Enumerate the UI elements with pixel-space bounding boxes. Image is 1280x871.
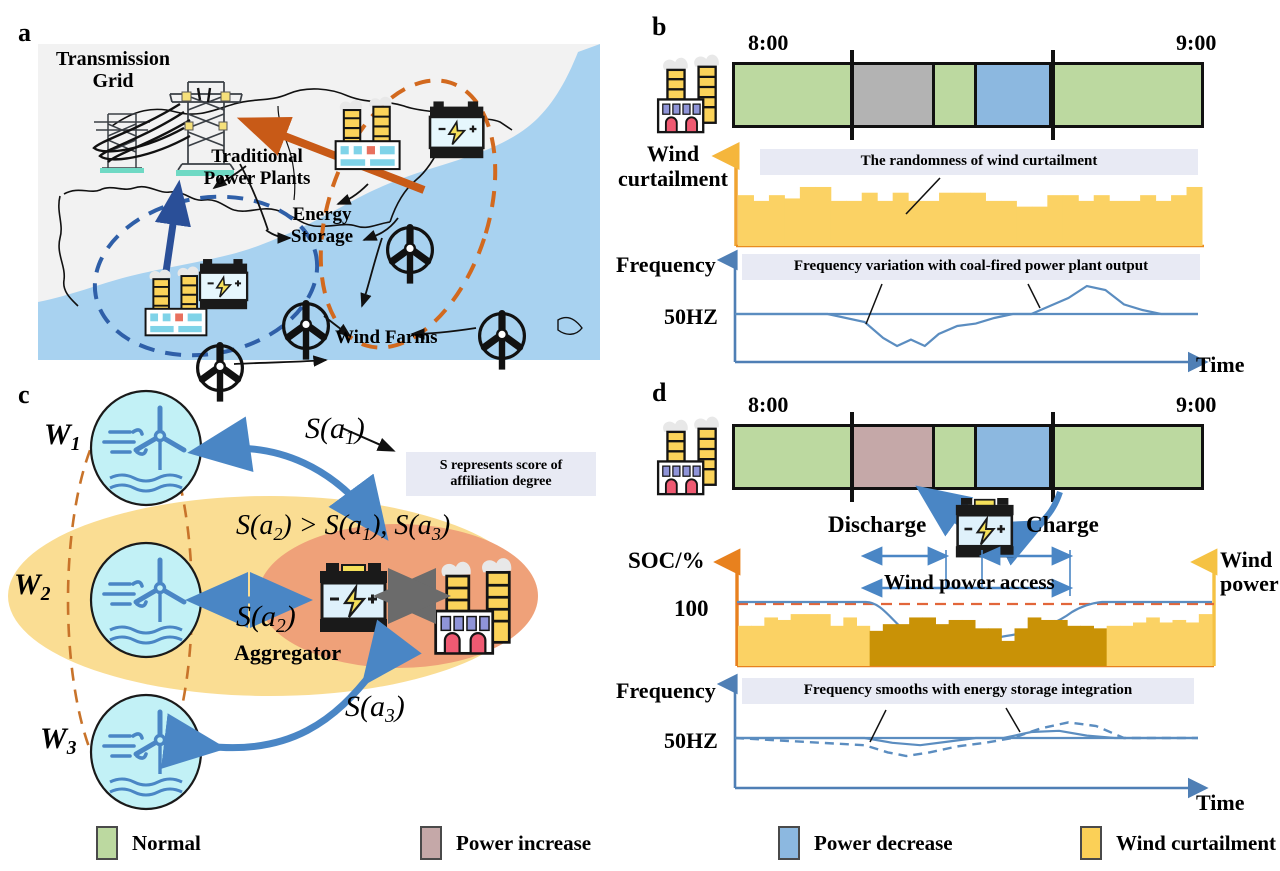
panel-c-s-a3-label: S(a3): [345, 690, 405, 728]
timeline-segment: [854, 65, 936, 125]
wind-label-line2: curtailment: [618, 166, 728, 191]
panel-d-windpower-axis-label: Wind power: [1220, 548, 1279, 596]
panel-b-time-start: 8:00: [748, 30, 788, 56]
energy-storage-line2: Storage: [291, 226, 353, 247]
legend-item: Normal: [96, 826, 201, 860]
legend-swatch: [1080, 826, 1102, 860]
panel-b-frequency-callout: Frequency variation with coal-fired powe…: [742, 254, 1200, 280]
panel-b-frequency-axis-label: Frequency: [616, 252, 716, 278]
energy-storage-label: Energy Storage: [277, 204, 367, 248]
legend-label: Wind curtailment: [1116, 831, 1276, 856]
panel-c-score-callout: S represents score of affiliation degree: [406, 452, 596, 496]
wind-node-1: [91, 391, 201, 505]
w3-sub: 3: [67, 738, 77, 759]
wind-power-bar: [870, 631, 884, 666]
timeline-segment: [735, 427, 854, 487]
timeline-segment: [1052, 65, 1201, 125]
panel-d-soc-chart: [730, 540, 1222, 672]
legend-item: Power decrease: [778, 826, 953, 860]
wind-curtailment-bar: [1140, 195, 1156, 246]
wind-power-bar: [909, 617, 923, 666]
wind-curtailment-bar: [1109, 201, 1125, 246]
panel-b-wind-leader: [900, 176, 946, 218]
legend-label: Power decrease: [814, 831, 953, 856]
panel-d-frequency-axis-label: Frequency: [616, 678, 716, 704]
wind-power-bar: [975, 628, 989, 666]
wind-power-bar: [1001, 641, 1015, 666]
panel-b-letter: b: [652, 12, 666, 42]
wind-power-bar: [857, 626, 871, 666]
wind-power-bar: [1015, 628, 1029, 666]
wind-curtailment-bar: [1187, 187, 1203, 246]
s-a2-close: ): [286, 600, 296, 633]
wind-power-bar: [1133, 622, 1147, 666]
timeline-segment: [735, 65, 854, 125]
wind-power-bar: [1199, 614, 1213, 666]
wind-power-bar: [778, 620, 792, 666]
s-a2-base: S(a: [236, 600, 276, 633]
wind-curtailment-bar: [970, 193, 986, 246]
panel-c-s-a2-label: S(a2): [236, 600, 296, 638]
panel-b-frequency-baseline-label: 50HZ: [664, 304, 718, 330]
wind-curtailment-bar: [753, 201, 769, 246]
wind-power-bar: [751, 626, 765, 666]
wind-power-bar: [817, 614, 831, 666]
wind-curtailment-bar: [1063, 195, 1079, 246]
wind-farms-label: Wind Farms: [335, 327, 438, 349]
windpower-line2: power: [1220, 571, 1279, 596]
wind-power-bar: [738, 626, 752, 666]
transmission-grid-line1: Transmission: [56, 48, 170, 70]
wind-power-bar: [988, 628, 1002, 666]
panel-c-s-a1-label: S(a1): [305, 412, 365, 450]
wind-power-bar: [1173, 620, 1187, 666]
wind-node-2: [91, 543, 201, 657]
score-callout-line2: affiliation degree: [450, 474, 551, 490]
figure-root: a: [0, 0, 1280, 871]
panel-d-discharge-label: Discharge: [828, 512, 926, 538]
panel-d-frequency-baseline-label: 50HZ: [664, 728, 718, 754]
wind-power-bar: [1120, 626, 1134, 666]
wind-power-bar: [949, 620, 963, 666]
wind-power-bar: [843, 617, 857, 666]
panel-c-w2-label: W2: [14, 568, 50, 606]
wind-curtailment-bar: [784, 198, 800, 246]
wind-power-bar: [764, 617, 778, 666]
panel-d-frequency-callout: Frequency smooths with energy storage in…: [742, 678, 1194, 704]
panel-d-soc-axis-label: SOC/%: [628, 548, 705, 574]
legend-swatch: [778, 826, 800, 860]
panel-c-w3-label: W3: [40, 722, 76, 760]
w1-sub: 1: [71, 434, 81, 455]
legend-swatch: [96, 826, 118, 860]
wind-power-bar: [922, 617, 936, 666]
panel-b-plant-icon: [655, 50, 725, 138]
wind-power-bar: [896, 624, 910, 666]
timeline-divider: [850, 412, 854, 502]
legend-item: Power increase: [420, 826, 591, 860]
wind-power-bar: [883, 624, 897, 666]
legend-label: Normal: [132, 831, 201, 856]
s-a3-sub: 3: [385, 706, 395, 727]
wind-power-bar: [1054, 620, 1068, 666]
panel-b-timeline: [732, 62, 1204, 128]
timeline-segment: [977, 427, 1052, 487]
timeline-divider: [1051, 412, 1055, 502]
legend-swatch: [420, 826, 442, 860]
timeline-segment: [935, 65, 977, 125]
wind-curtailment-bar: [985, 201, 1001, 246]
wind-power-bar: [1067, 626, 1081, 666]
wind-power-bar: [936, 624, 950, 666]
timeline-divider: [850, 50, 854, 140]
wind-curtailment-bar: [1078, 201, 1094, 246]
wind-label-line1: Wind: [647, 141, 699, 166]
panel-c-w1-label: W1: [44, 418, 80, 456]
wind-curtailment-bar: [769, 195, 785, 246]
wind-curtailment-bar: [877, 201, 893, 246]
wind-curtailment-bar: [1125, 201, 1141, 246]
s-a3-close: ): [395, 690, 405, 723]
wind-curtailment-bar: [955, 193, 971, 246]
s-a1-sub: 1: [345, 428, 355, 449]
s-a1-base: S(a: [305, 412, 345, 445]
wind-curtailment-bar: [1094, 195, 1110, 246]
transmission-grid-line2: Grid: [92, 70, 133, 92]
wind-node-3: [91, 695, 201, 809]
panel-d-letter: d: [652, 378, 666, 408]
panel-c-aggregator-label: Aggregator: [234, 640, 341, 666]
panel-d-time-axis-label: Time: [1196, 790, 1244, 816]
wind-power-bar: [791, 614, 805, 666]
legend-label: Power increase: [456, 831, 591, 856]
panel-d-charge-label: Charge: [1026, 512, 1099, 538]
wind-curtailment-bar: [846, 201, 862, 246]
wind-curtailment-bar: [831, 201, 847, 246]
panel-d-soc-tick-label: 100: [674, 596, 709, 622]
panel-a-letter: a: [18, 18, 31, 48]
panel-b-time-end: 9:00: [1176, 30, 1216, 56]
wind-power-bar: [1107, 626, 1121, 666]
wind-curtailment-bar: [1032, 207, 1048, 246]
wind-power-bar: [1186, 622, 1200, 666]
energy-storage-line1: Energy: [292, 204, 351, 225]
w3-base: W: [40, 722, 67, 755]
panel-d-windaccess-label: Wind power access: [884, 570, 1055, 595]
panel-b-wind-axis-label: Wind curtailment: [608, 142, 738, 191]
s-a3-base: S(a: [345, 690, 385, 723]
wind-power-bar: [1146, 617, 1160, 666]
panel-d-timeline: [732, 424, 1204, 490]
timeline-segment: [935, 427, 977, 487]
panel-d-time-start: 8:00: [748, 392, 788, 418]
wind-power-bar: [804, 614, 818, 666]
panel-b-time-axis-label: Time: [1196, 352, 1244, 378]
panel-d-plant-icon: [655, 412, 725, 500]
wind-curtailment-bar: [1016, 207, 1032, 246]
timeline-segment: [1052, 427, 1201, 487]
wind-power-bar: [1041, 620, 1055, 666]
transmission-grid-label: Transmission Grid: [48, 48, 178, 93]
panel-b-wind-callout: The randomness of wind curtailment: [760, 149, 1198, 175]
wind-curtailment-bar: [738, 195, 754, 246]
w2-sub: 2: [41, 584, 51, 605]
traditional-power-plants-label: Traditional Power Plants: [190, 146, 324, 190]
panel-c-inequality: S(a2) > S(a1), S(a3): [236, 510, 450, 545]
s-a1-close: ): [355, 412, 365, 445]
windpower-line1: Wind: [1220, 547, 1272, 572]
wind-curtailment-bar: [1156, 201, 1172, 246]
timeline-divider: [1051, 50, 1055, 140]
w1-base: W: [44, 418, 71, 451]
wind-curtailment-bar: [1001, 201, 1017, 246]
timeline-segment: [854, 427, 936, 487]
w2-base: W: [14, 568, 41, 601]
s-a2-sub: 2: [276, 616, 286, 637]
wind-curtailment-bar: [815, 187, 831, 246]
wind-power-bar: [1028, 617, 1042, 666]
wind-curtailment-bar: [1171, 195, 1187, 246]
wind-power-bar: [1080, 626, 1094, 666]
wind-curtailment-bar: [800, 187, 816, 246]
legend-item: Wind curtailment: [1080, 826, 1276, 860]
wind-curtailment-bar: [1047, 195, 1063, 246]
traditional-pp-line2: Power Plants: [204, 168, 311, 189]
panel-d-time-end: 9:00: [1176, 392, 1216, 418]
wind-power-bar: [962, 620, 976, 666]
traditional-pp-line1: Traditional: [211, 146, 303, 167]
wind-power-bar: [830, 626, 844, 666]
timeline-segment: [977, 65, 1052, 125]
wind-curtailment-bar: [862, 193, 878, 246]
wind-power-bar: [1159, 622, 1173, 666]
aggregator-battery-icon: [320, 563, 387, 632]
score-callout-line1: S represents score of: [440, 458, 562, 474]
wind-power-bar: [1094, 628, 1108, 666]
